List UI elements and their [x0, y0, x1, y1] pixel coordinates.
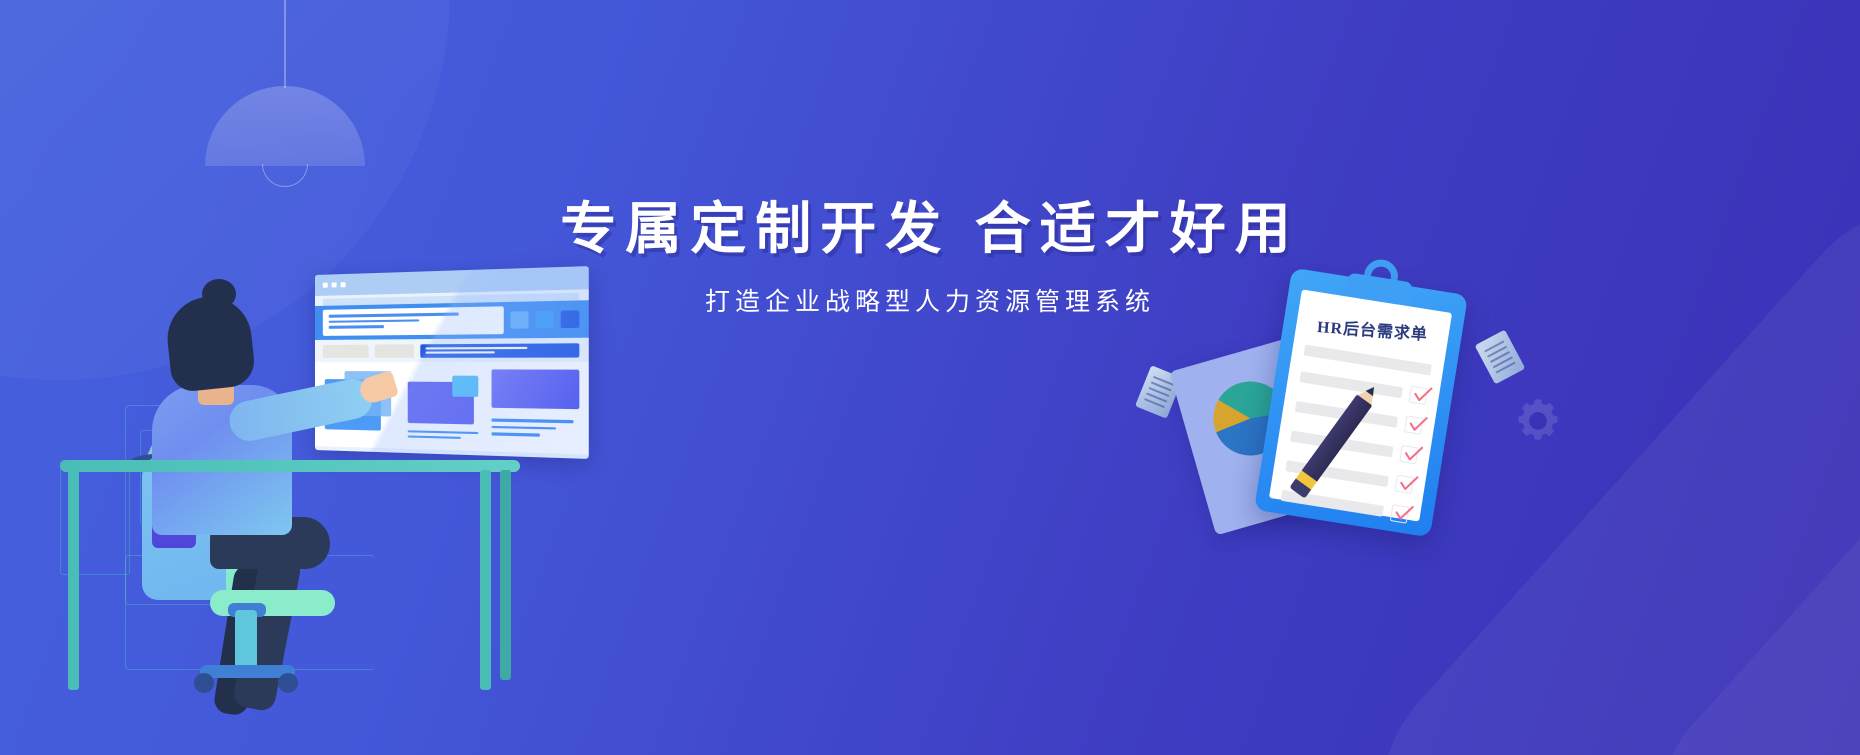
hero-banner: 专属定制开发 合适才好用 打造企业战略型人力资源管理系统 [0, 0, 1860, 755]
toolbar-primary-chip [420, 343, 579, 358]
toolbar-chip [323, 344, 369, 357]
checkmark-icon [1390, 504, 1409, 523]
content-tile [452, 376, 478, 397]
checkmark-icon [1409, 386, 1428, 405]
desk-top [60, 460, 520, 472]
lamp-glow-arc [262, 164, 308, 187]
banner-subheadline: 打造企业战略型人力资源管理系统 [0, 286, 1860, 319]
monitor-content-column [408, 369, 485, 444]
monitor-toolbar [315, 338, 589, 362]
illustration-person-at-desk [60, 255, 660, 755]
checklist-line [1299, 371, 1402, 398]
checkmark-icon [1404, 415, 1423, 434]
content-tile [492, 369, 580, 409]
checkmark-icon [1399, 445, 1418, 464]
chair-wheel [194, 673, 214, 693]
banner-headline: 专属定制开发 合适才好用 [0, 196, 1860, 262]
checkmark-icon [1395, 475, 1414, 494]
illustration-hr-clipboard: HR后台需求单 [1180, 270, 1580, 600]
pendant-lamp-icon [205, 0, 365, 173]
content-lines [492, 414, 580, 437]
lamp-shade [205, 86, 365, 166]
desk-leg [68, 470, 79, 690]
chair-wheel [278, 673, 298, 693]
desk-leg [500, 470, 511, 680]
content-lines [408, 427, 479, 439]
desk-leg [480, 470, 491, 690]
lamp-cord [284, 0, 286, 88]
toolbar-chip [375, 344, 414, 358]
banner-text-block: 专属定制开发 合适才好用 打造企业战略型人力资源管理系统 [0, 196, 1860, 319]
monitor-content-column [492, 369, 580, 446]
chair-post [235, 610, 257, 670]
